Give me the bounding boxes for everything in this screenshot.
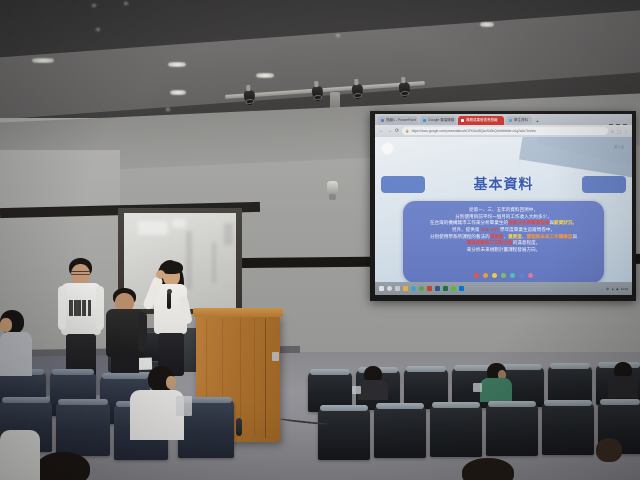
microphone-icon [167, 292, 171, 309]
audience-face [166, 376, 176, 389]
podium-top [193, 308, 283, 317]
seat-headrest [544, 400, 592, 406]
ceiling-speck [336, 34, 340, 37]
seat [542, 403, 594, 455]
ceiling-speck [92, 4, 96, 7]
body-seg-highlight: 104~107 [481, 227, 499, 232]
slide-title-row: 基本資料 [375, 173, 632, 195]
seat-headrest [310, 369, 350, 375]
presenter-middle [104, 288, 146, 380]
tablet-glint [352, 386, 361, 394]
minimize-icon[interactable] [609, 124, 613, 125]
audience-head [0, 430, 40, 480]
presenter-right-with-microphone [146, 258, 194, 376]
seat [56, 402, 110, 456]
tab-favicon [423, 119, 426, 122]
windows-start-icon[interactable] [379, 286, 384, 291]
mail-icon[interactable] [459, 286, 464, 291]
recessed-light [168, 62, 186, 67]
chrome-icon[interactable] [419, 286, 424, 291]
ime-indicator[interactable]: 中 [606, 287, 609, 291]
podium-seam [265, 318, 266, 438]
tab-label: 學生資料 [514, 119, 528, 123]
browser-tab-active[interactable]: 專題成果發表會簡報 [458, 116, 504, 125]
word-icon[interactable] [435, 286, 440, 291]
tshirt-print [69, 300, 91, 316]
slide-body-line: 來分析未來規劃計畫課程發展方向。 [467, 247, 541, 252]
window-controls[interactable] [609, 124, 629, 125]
wall-outlet [272, 352, 279, 361]
title-decor-left [381, 176, 425, 193]
forward-icon[interactable]: → [387, 129, 392, 134]
taskview-icon[interactable] [395, 286, 400, 291]
audience-head [36, 452, 90, 480]
body-seg: 。 [572, 220, 577, 225]
slide-body-card: 從第一、三、五年的資料回溯中， 分別使用目前平均一個月的工作收入大約多少， 在台… [403, 201, 604, 282]
body-seg-highlight: 課程與未來工作關聯度 [526, 234, 572, 239]
title-decor-right [582, 176, 626, 193]
projection-screen: 簡報1 - PowerPoint Google 雲端硬碟 專題成果發表會簡報 學… [370, 111, 636, 301]
seat [486, 404, 538, 456]
slide-tick-mark: · [519, 163, 520, 167]
url-input[interactable]: 🔒 https://docs.google.com/presentation/d… [402, 127, 607, 135]
address-bar-actions: ☆ ⬚ ⋮ [611, 129, 628, 134]
tab-label: 簡報1 - PowerPoint [386, 119, 416, 123]
whiteboard-reflection [212, 243, 216, 283]
audience-head [462, 458, 514, 480]
body-seg-highlight: 薪資狀況 [554, 220, 572, 225]
slide-body-line: 另外，提供第 104~107 學年度畢業生追蹤問卷中， [452, 227, 555, 232]
body-seg: 的滿意程度， [513, 240, 541, 245]
seat-headrest [102, 373, 148, 379]
podium-grain [254, 318, 255, 436]
search-icon[interactable] [387, 286, 392, 291]
speaker-icon[interactable]: ◆ [616, 287, 618, 291]
seat-headrest [432, 402, 480, 408]
emoji-green-icon [501, 273, 506, 278]
tab-favicon [509, 119, 512, 122]
excel-icon[interactable] [443, 286, 448, 291]
presentation-slide: 第 2 頁 · 基本資料 從第一、三、五年的資料回溯中， 分別使用目前平均一個月… [375, 137, 632, 282]
body-seg: 學年度畢業生追蹤問卷中， [499, 227, 555, 232]
taskbar-clock[interactable]: 14:32 [620, 287, 628, 291]
slide-body-line: 在台灣的機構無市工作來分析畢業生的就業分析與職涯發展與薪資狀況。 [430, 220, 577, 225]
body-seg: 分別使用學系所課程的看法的 [430, 234, 490, 239]
seat [318, 408, 370, 460]
browser-tab[interactable]: 學生資料 [506, 116, 532, 125]
emoji-pink-icon [528, 273, 533, 278]
body-seg-highlight: 職涯規劃與工作契合度 [467, 240, 513, 245]
audience-face [0, 318, 12, 332]
seat-headrest [58, 399, 108, 405]
audience-body [608, 376, 638, 398]
glasses-icon [71, 271, 90, 275]
url-text: https://docs.google.com/presentation/d/1… [412, 129, 536, 133]
emoji-orange-icon [483, 273, 488, 278]
seat-headrest [550, 363, 590, 369]
emoji-red-icon [474, 273, 479, 278]
body-seg-highlight: 滿意度 [490, 234, 504, 239]
seat-headrest [320, 405, 368, 411]
body-seg-highlight: 就業分析與職涯發展 [508, 220, 549, 225]
system-tray: 中 ▲ ◆ 14:32 [606, 287, 628, 291]
slide-circle-decor [382, 143, 393, 154]
slide-body-line: 職涯規劃與工作契合度的滿意程度， [467, 240, 541, 245]
recessed-light [32, 58, 54, 63]
windows-taskbar: 中 ▲ ◆ 14:32 [375, 282, 632, 295]
line-icon[interactable] [451, 286, 456, 291]
maximize-icon[interactable] [616, 124, 620, 125]
lock-icon: 🔒 [405, 129, 409, 133]
audience-body [480, 378, 512, 402]
audience-head [596, 438, 622, 462]
whiteboard-glare [172, 219, 186, 228]
edge-icon[interactable] [411, 286, 416, 291]
tablet-glint [473, 383, 482, 392]
close-icon[interactable] [623, 124, 627, 125]
kebab-menu-icon[interactable]: ⋮ [624, 129, 628, 134]
seat-headrest [52, 369, 94, 375]
recessed-light [256, 73, 274, 78]
seat-headrest [376, 403, 424, 409]
emoji-blue-icon [519, 273, 524, 278]
emoji-teal-icon [510, 273, 515, 278]
tab-favicon [381, 119, 384, 122]
seat-headrest [600, 399, 640, 405]
tab-label: Google 雲端硬碟 [428, 119, 454, 123]
paper-sheet [176, 396, 192, 416]
seat-armrest [236, 418, 242, 436]
raised-hand [156, 270, 165, 279]
wifi-icon[interactable]: ▲ [611, 287, 614, 291]
body-seg-highlight: 重要度 [508, 234, 522, 239]
whiteboard-reflection [224, 223, 233, 245]
body-seg: 與 [572, 234, 577, 239]
projected-image: 簡報1 - PowerPoint Google 雲端硬碟 專題成果發表會簡報 學… [375, 114, 632, 295]
browser-tab[interactable]: Google 雲端硬碟 [420, 116, 456, 125]
tab-favicon [461, 119, 464, 122]
back-icon[interactable]: ← [379, 129, 384, 134]
seat [374, 406, 426, 458]
ceiling-speck [96, 28, 100, 31]
recessed-light [480, 22, 494, 27]
body-seg: 在台灣的機構無市工作來分析畢業生的 [430, 220, 508, 225]
wall-camera-icon [327, 181, 338, 195]
lecture-hall-photo: 簡報1 - PowerPoint Google 雲端硬碟 專題成果發表會簡報 學… [0, 0, 640, 480]
ceiling-speck [166, 108, 170, 111]
audience-body [358, 380, 388, 400]
seat-headrest [406, 366, 446, 372]
right-arm [96, 286, 104, 330]
audience-body [0, 332, 32, 376]
slide-body-line: 分別使用學系所課程的看法的滿意度、重要度、課程與未來工作關聯度與 [430, 234, 577, 239]
powerpoint-icon[interactable] [427, 286, 432, 291]
presenter-left [58, 258, 104, 378]
seat-headrest [2, 397, 50, 403]
browser-address-bar: ← → ⟳ 🔒 https://docs.google.com/presenta… [375, 125, 632, 137]
tab-label: 專題成果發表會簡報 [466, 119, 498, 123]
star-icon[interactable]: ☆ [611, 129, 615, 134]
puzzle-icon[interactable]: ⬚ [617, 129, 621, 134]
whiteboard-glare [138, 221, 168, 235]
ceiling-speck [124, 2, 128, 5]
body-seg: 另外，提供第 [452, 227, 481, 232]
slide-title: 基本資料 [474, 174, 534, 194]
seat-headrest [502, 364, 542, 370]
recessed-light [170, 90, 186, 95]
emoji-yellow-icon [492, 273, 497, 278]
slide-body-line: 從第一、三、五年的資料回溯中， [469, 207, 538, 212]
slide-emoji-row [375, 273, 632, 278]
seat-headrest [488, 401, 536, 407]
slide-page-mark: 第 2 頁 [614, 144, 624, 149]
explorer-icon[interactable] [403, 286, 408, 291]
seat [430, 405, 482, 457]
reload-icon[interactable]: ⟳ [395, 129, 399, 134]
slide-body-line: 分別使用目前平均一個月的工作收入大約多少， [455, 214, 551, 219]
browser-tab[interactable]: 簡報1 - PowerPoint [378, 116, 418, 125]
new-tab-button[interactable]: + [534, 119, 541, 125]
browser-tab-strip: 簡報1 - PowerPoint Google 雲端硬碟 專題成果發表會簡報 學… [375, 114, 632, 125]
left-arm [58, 286, 66, 330]
